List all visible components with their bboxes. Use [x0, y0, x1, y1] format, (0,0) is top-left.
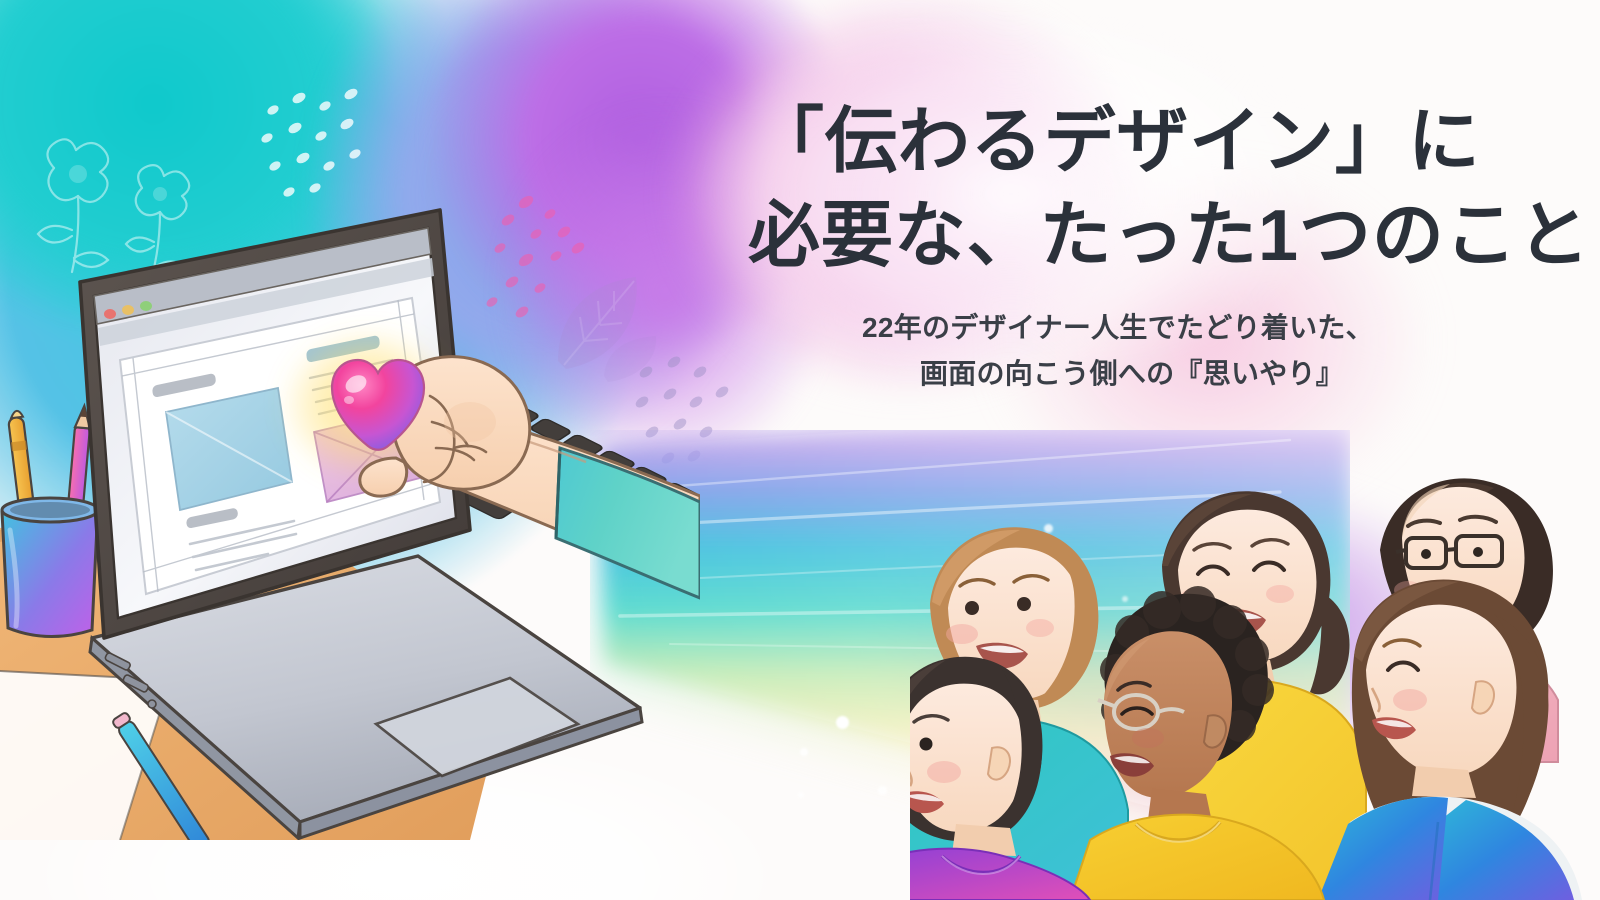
person-woman-blue — [1318, 579, 1582, 900]
headline-line-1: 「伝わるデザイン」に — [744, 96, 1544, 190]
subtitle-line-1: 22年のデザイナー人生でたどり着いた、 — [744, 305, 1492, 350]
subtitle-block: 22年のデザイナー人生でたどり着いた、 画面の向こう側への『思いやり』 — [744, 305, 1544, 396]
subtitle-line-2: 画面の向こう側への『思いやり』 — [744, 351, 1492, 396]
hero-illustration-banner: 「伝わるデザイン」に 必要な、たった1つのこと 22年のデザイナー人生でたどり着… — [0, 0, 1600, 900]
dot-pattern-blue-icon — [255, 80, 395, 220]
hero-text-block: 「伝わるデザイン」に 必要な、たった1つのこと 22年のデザイナー人生でたどり着… — [744, 96, 1544, 396]
audience-group — [910, 370, 1600, 900]
laptop-illustration — [0, 200, 700, 840]
headline-line-2: 必要な、たった1つのこと — [744, 190, 1544, 284]
pencil-cup — [2, 405, 98, 636]
